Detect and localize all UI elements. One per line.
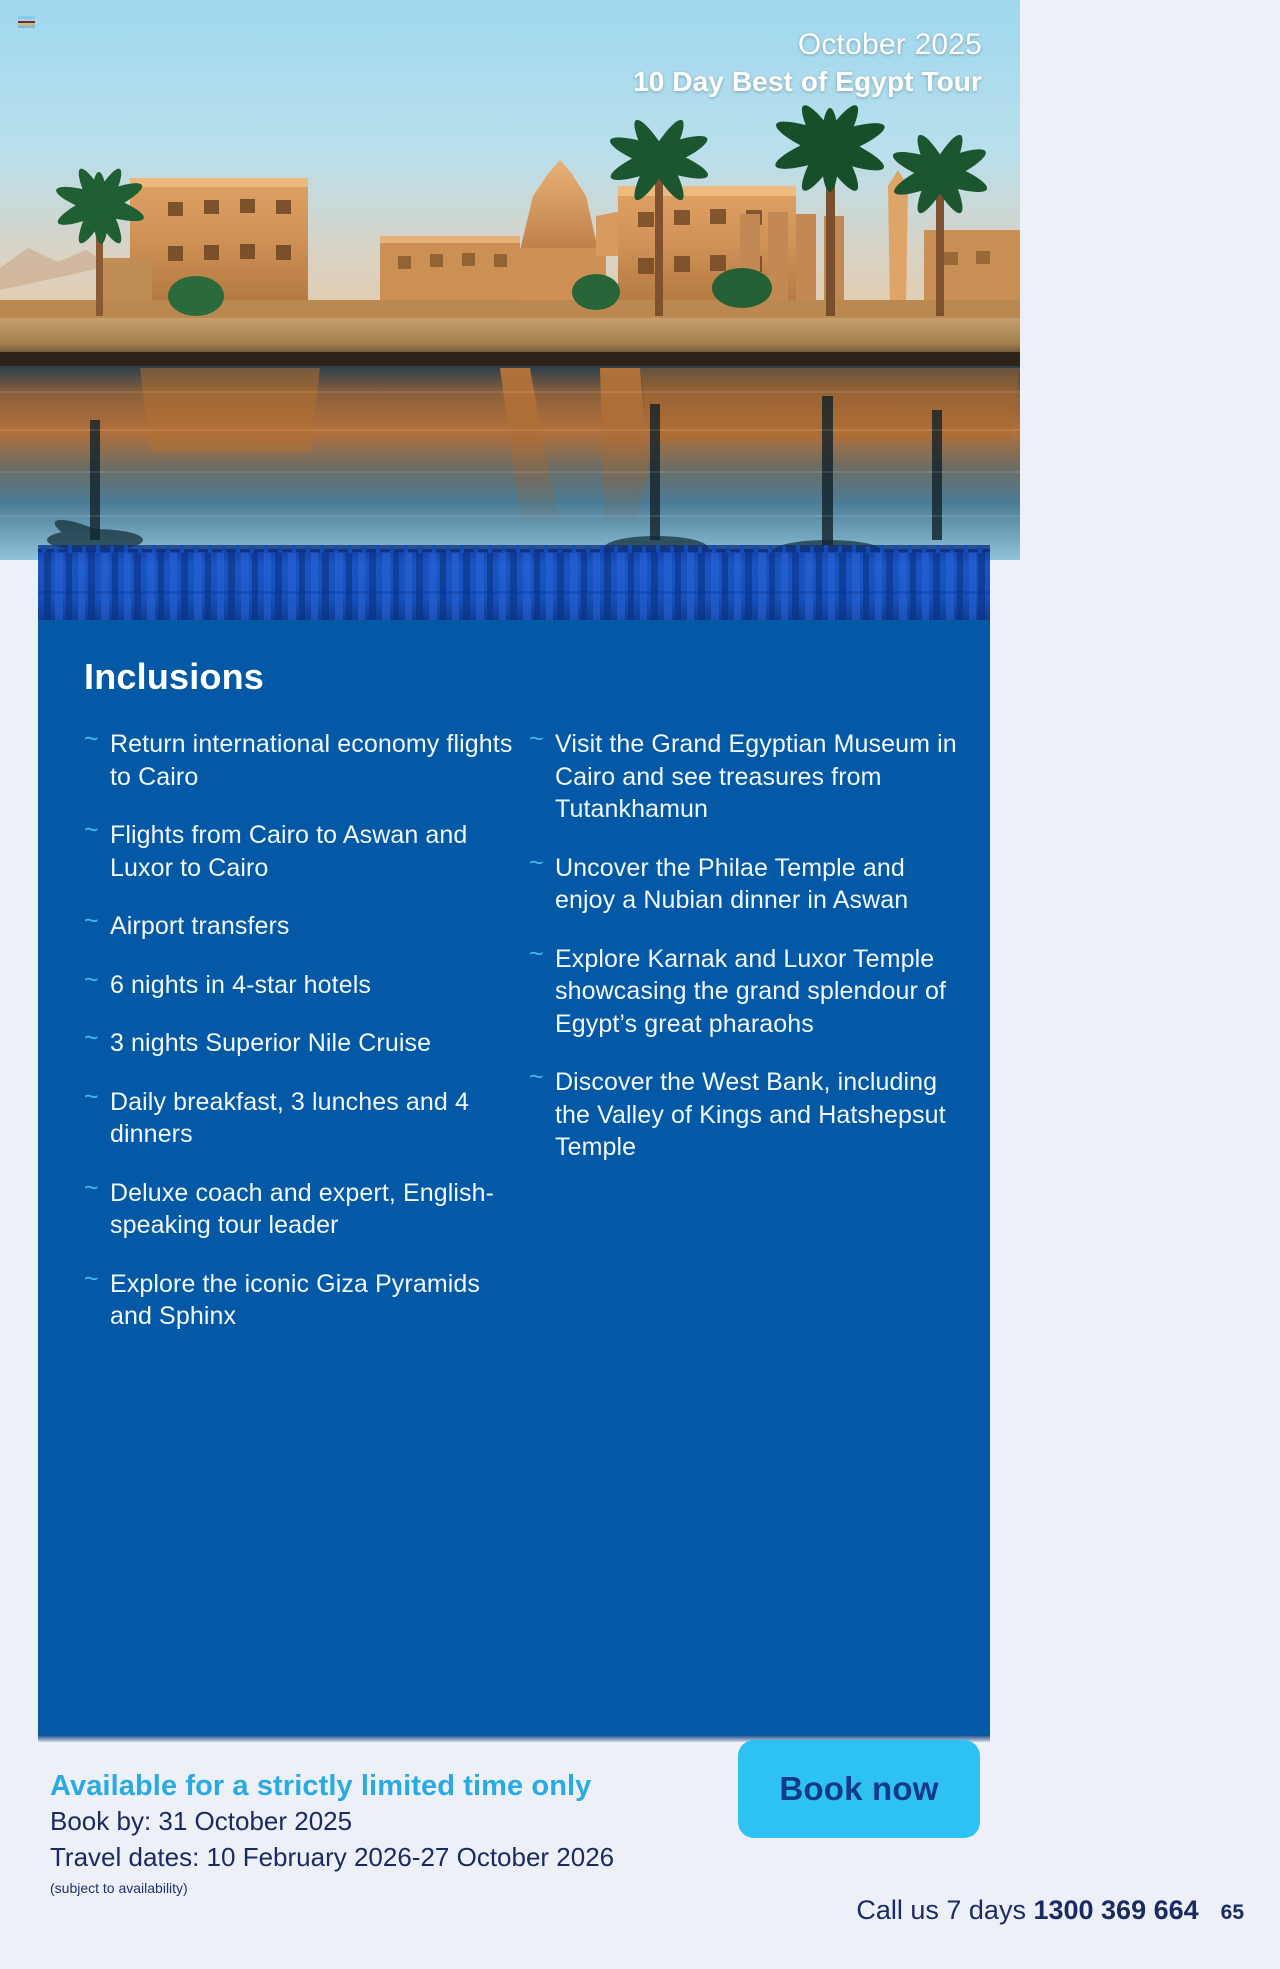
tilde-bullet-icon: ~ <box>84 1084 110 1110</box>
list-item-label: 3 nights Superior Nile Cruise <box>110 1027 431 1060</box>
list-item: ~ Deluxe coach and expert, English-speak… <box>84 1177 515 1242</box>
list-item: ~ Discover the West Bank, including the … <box>529 1066 960 1164</box>
list-item-label: Explore the iconic Giza Pyramids and Sph… <box>110 1268 515 1333</box>
list-item: ~ Return international economy flights t… <box>84 728 515 793</box>
tilde-bullet-icon: ~ <box>84 1266 110 1292</box>
travel-dates: Travel dates: 10 February 2026-27 Octobe… <box>50 1841 614 1875</box>
page-number: 65 <box>1221 1901 1244 1925</box>
list-item-label: Flights from Cairo to Aswan and Luxor to… <box>110 819 515 884</box>
list-item-label: Explore Karnak and Luxor Temple showcasi… <box>555 943 960 1041</box>
inclusions-columns: ~ Return international economy flights t… <box>84 728 990 1359</box>
list-item: ~ Explore Karnak and Luxor Temple showca… <box>529 943 960 1041</box>
inclusions-panel: Inclusions ~ Return international econom… <box>38 610 990 1735</box>
tilde-bullet-icon: ~ <box>84 817 110 843</box>
list-item: ~ 6 nights in 4-star hotels <box>84 969 515 1002</box>
tilde-bullet-icon: ~ <box>84 967 110 993</box>
list-item-label: Uncover the Philae Temple and enjoy a Nu… <box>555 852 960 917</box>
call-us-prefix: Call us 7 days <box>856 1895 1026 1925</box>
phone-number[interactable]: 1300 369 664 <box>1033 1895 1198 1925</box>
hero-image: October 2025 10 Day Best of Egypt Tour <box>0 0 1020 560</box>
list-item: ~ Visit the Grand Egyptian Museum in Cai… <box>529 728 960 826</box>
tilde-bullet-icon: ~ <box>529 1064 555 1090</box>
tilde-bullet-icon: ~ <box>529 941 555 967</box>
list-item-label: Airport transfers <box>110 910 290 943</box>
list-item: ~ Uncover the Philae Temple and enjoy a … <box>529 852 960 917</box>
list-item: ~ Airport transfers <box>84 910 515 943</box>
book-now-button[interactable]: Book now <box>738 1740 980 1838</box>
list-item: ~ Daily breakfast, 3 lunches and 4 dinne… <box>84 1086 515 1151</box>
list-item-label: Discover the West Bank, including the Va… <box>555 1066 960 1164</box>
tilde-bullet-icon: ~ <box>84 1025 110 1051</box>
tilde-bullet-icon: ~ <box>529 850 555 876</box>
book-now-label: Book now <box>779 1770 938 1808</box>
tilde-bullet-icon: ~ <box>84 908 110 934</box>
offer-details: Available for a strictly limited time on… <box>50 1770 614 1896</box>
list-item-label: Return international economy flights to … <box>110 728 515 793</box>
footer: Call us 7 days 1300 369 664 65 <box>856 1895 1244 1926</box>
list-item-label: Visit the Grand Egyptian Museum in Cairo… <box>555 728 960 826</box>
tour-month: October 2025 <box>633 28 982 63</box>
list-item: ~ Explore the iconic Giza Pyramids and S… <box>84 1268 515 1333</box>
fabric-valance-decoration <box>38 545 990 620</box>
tilde-bullet-icon: ~ <box>84 1175 110 1201</box>
tilde-bullet-icon: ~ <box>529 726 555 752</box>
list-item-label: Daily breakfast, 3 lunches and 4 dinners <box>110 1086 515 1151</box>
offer-headline: Available for a strictly limited time on… <box>50 1770 614 1803</box>
inclusions-heading: Inclusions <box>84 656 990 698</box>
list-item-label: Deluxe coach and expert, English-speakin… <box>110 1177 515 1242</box>
tilde-bullet-icon: ~ <box>84 726 110 752</box>
offer-disclaimer: (subject to availability) <box>50 1880 614 1896</box>
list-item: ~ 3 nights Superior Nile Cruise <box>84 1027 515 1060</box>
book-by-date: Book by: 31 October 2025 <box>50 1805 614 1839</box>
inclusions-right-column: ~ Visit the Grand Egyptian Museum in Cai… <box>529 728 960 1359</box>
list-item-label: 6 nights in 4-star hotels <box>110 969 371 1002</box>
call-us-text: Call us 7 days 1300 369 664 <box>856 1895 1198 1926</box>
list-item: ~ Flights from Cairo to Aswan and Luxor … <box>84 819 515 884</box>
page-title: 10 Day Best of Egypt Tour <box>633 65 982 99</box>
inclusions-left-column: ~ Return international economy flights t… <box>84 728 515 1359</box>
broken-image-icon <box>18 16 35 28</box>
hero-title-block: October 2025 10 Day Best of Egypt Tour <box>633 28 982 98</box>
